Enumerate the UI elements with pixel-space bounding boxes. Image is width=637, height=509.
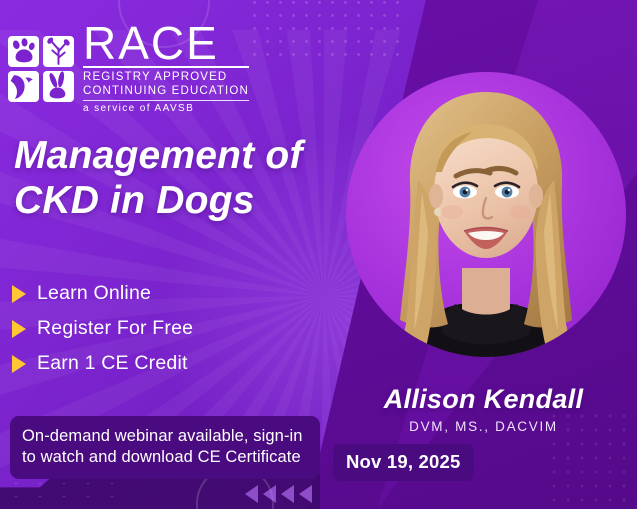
paw-print-icon — [8, 36, 39, 67]
list-item-label: Learn Online — [37, 282, 151, 305]
triangle-right-icon — [12, 355, 26, 373]
triangle-right-icon — [12, 285, 26, 303]
chevron-left-group — [245, 485, 312, 503]
race-tagline-line1: REGISTRY APPROVED — [83, 71, 249, 85]
caption-box: On-demand webinar available, sign-in to … — [10, 416, 320, 479]
chevron-left-icon — [299, 485, 312, 503]
chevron-left-icon — [263, 485, 276, 503]
speaker-block: Allison Kendall DVM, MS., DACVIM — [336, 385, 631, 434]
horse-icon — [8, 71, 39, 102]
list-item-label: Register For Free — [37, 317, 193, 340]
race-wordmark: RACE — [83, 22, 249, 64]
speaker-credentials: DVM, MS., DACVIM — [336, 419, 631, 434]
logo-divider-2 — [83, 100, 249, 101]
chevron-left-icon — [281, 485, 294, 503]
race-tagline-line2: CONTINUING EDUCATION — [83, 85, 249, 99]
race-service-line: a service of AAVSB — [83, 103, 249, 115]
caption-text: On-demand webinar available, sign-in to … — [22, 426, 308, 468]
leaf-branch-icon — [43, 36, 74, 67]
speaker-portrait — [360, 72, 612, 357]
dot-grid-top-icon — [248, 0, 408, 56]
triangle-right-icon — [12, 320, 26, 338]
rabbit-icon — [43, 71, 74, 102]
list-item: Learn Online — [12, 282, 193, 305]
chevron-left-icon — [245, 485, 258, 503]
date-text: Nov 19, 2025 — [346, 451, 461, 473]
list-item: Earn 1 CE Credit — [12, 352, 193, 375]
list-item: Register For Free — [12, 317, 193, 340]
benefits-list: Learn Online Register For Free Earn 1 CE… — [12, 282, 193, 375]
speaker-name: Allison Kendall — [336, 385, 631, 415]
dot-grid-bottom-left-icon — [4, 477, 124, 503]
race-logo-text: RACE REGISTRY APPROVED CONTINUING EDUCAT… — [83, 22, 249, 115]
speaker-portrait-container — [346, 72, 626, 357]
page-title: Management of CKD in Dogs — [14, 133, 354, 223]
logo-divider — [83, 66, 249, 68]
race-logo[interactable]: RACE REGISTRY APPROVED CONTINUING EDUCAT… — [8, 22, 249, 115]
portrait-circle-background — [346, 72, 626, 357]
race-logo-mark — [8, 36, 74, 102]
list-item-label: Earn 1 CE Credit — [37, 352, 188, 375]
webinar-promo-banner: RACE REGISTRY APPROVED CONTINUING EDUCAT… — [0, 0, 637, 509]
date-badge: Nov 19, 2025 — [333, 444, 474, 481]
